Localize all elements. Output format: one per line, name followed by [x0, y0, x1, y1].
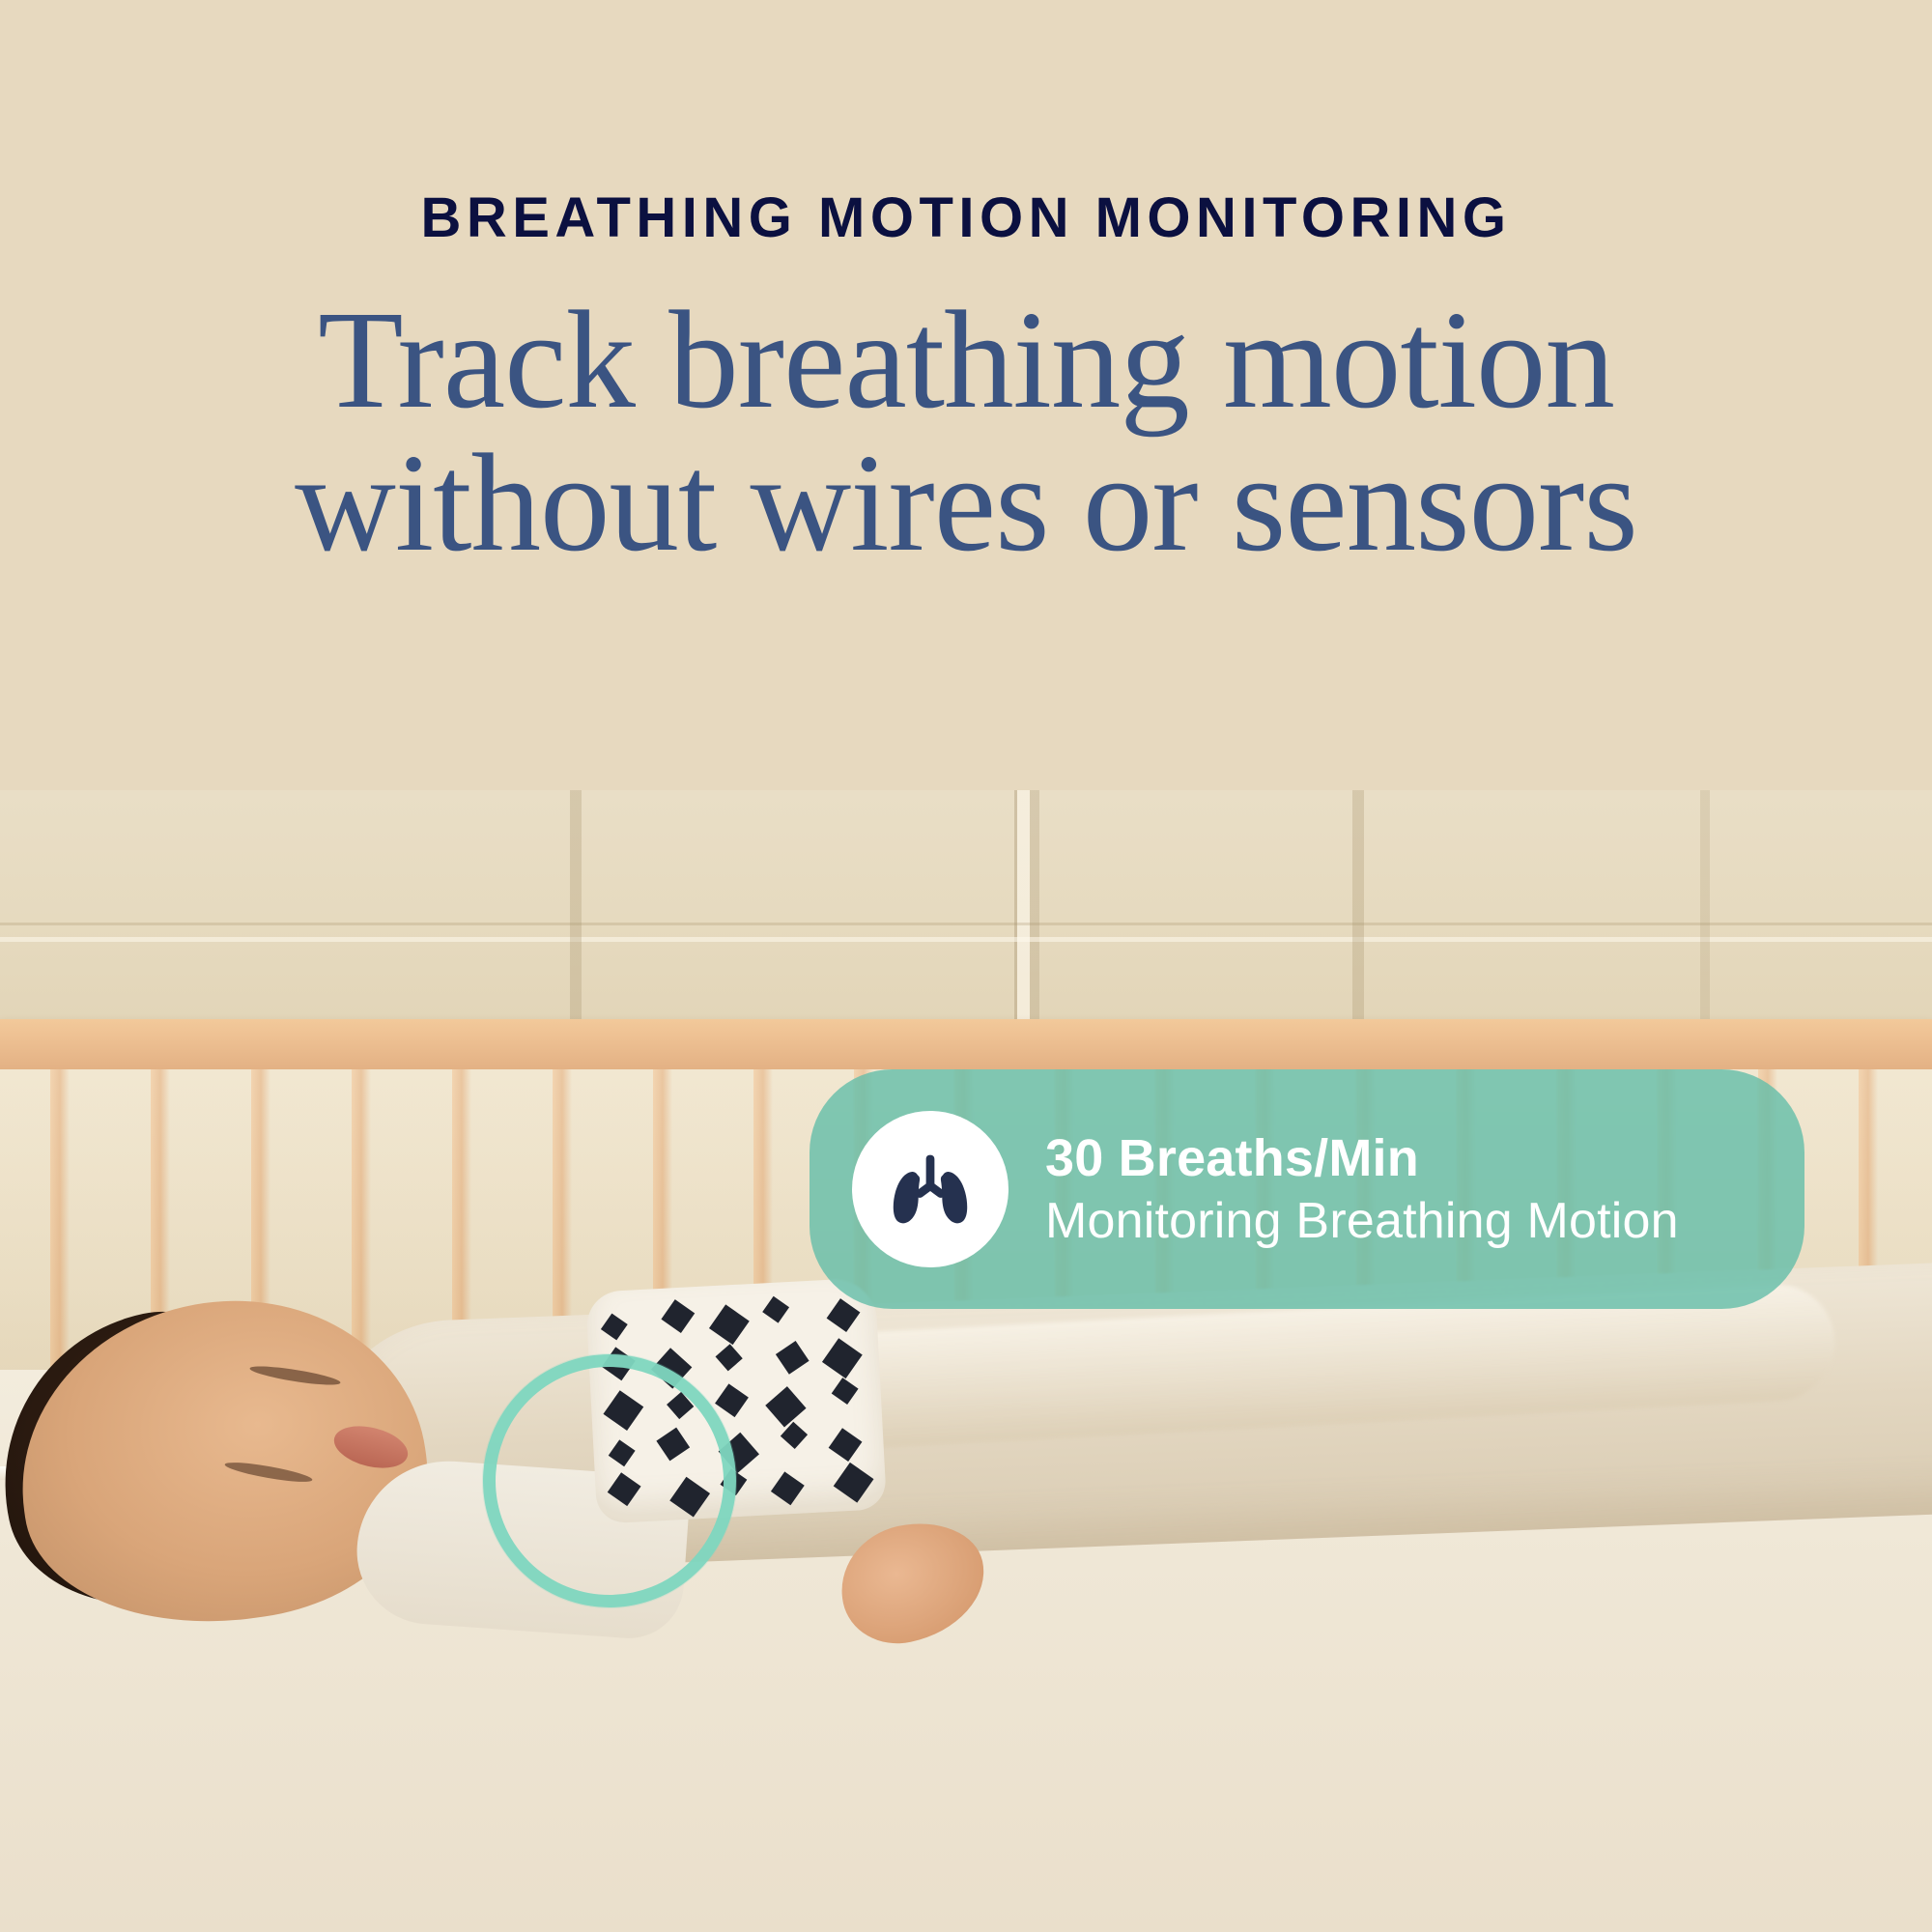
- crib-rail: [0, 1019, 1932, 1069]
- breath-rate-value: 30 Breaths/Min: [1045, 1129, 1679, 1187]
- header-section: BREATHING MOTION MONITORING Track breath…: [0, 0, 1932, 790]
- sleep-sack-diamond: [822, 1338, 863, 1378]
- sleep-sack-diamond: [771, 1471, 805, 1505]
- sleep-sack-diamond: [601, 1314, 628, 1341]
- sleep-sack-diamond: [828, 1428, 862, 1462]
- sleep-sack-diamond: [765, 1386, 806, 1427]
- sleep-sack-diamond: [661, 1299, 695, 1333]
- sleep-sack-diamond: [834, 1463, 874, 1503]
- sleep-sack-diamond: [776, 1341, 810, 1375]
- sleep-sack-diamond: [716, 1344, 743, 1371]
- hero-photo: 30 Breaths/Min Monitoring Breathing Moti…: [0, 790, 1932, 1932]
- badge-icon-circle: [852, 1111, 1009, 1267]
- sleep-sack-diamond: [831, 1378, 858, 1405]
- sleep-sack-diamond: [715, 1384, 749, 1418]
- sleep-sack-diamond: [709, 1305, 750, 1346]
- sleep-sack-diamond: [827, 1298, 861, 1332]
- badge-text-group: 30 Breaths/Min Monitoring Breathing Moti…: [1045, 1129, 1679, 1250]
- lungs-icon: [880, 1139, 980, 1239]
- breathing-highlight-ring: [483, 1354, 736, 1607]
- sleep-sack-diamond: [763, 1296, 790, 1323]
- breath-status-label: Monitoring Breathing Motion: [1045, 1193, 1679, 1249]
- headline-line-2: without wires or sensors: [0, 433, 1932, 576]
- headline-line-1: Track breathing motion: [0, 290, 1932, 433]
- marketing-poster: BREATHING MOTION MONITORING Track breath…: [0, 0, 1932, 1932]
- eyebrow-label: BREATHING MOTION MONITORING: [0, 185, 1932, 250]
- wall-post: [1014, 790, 1039, 1027]
- breathing-status-badge[interactable]: 30 Breaths/Min Monitoring Breathing Moti…: [810, 1069, 1804, 1309]
- nursery-wall: [0, 790, 1932, 1027]
- page-title: Track breathing motion without wires or …: [0, 290, 1932, 576]
